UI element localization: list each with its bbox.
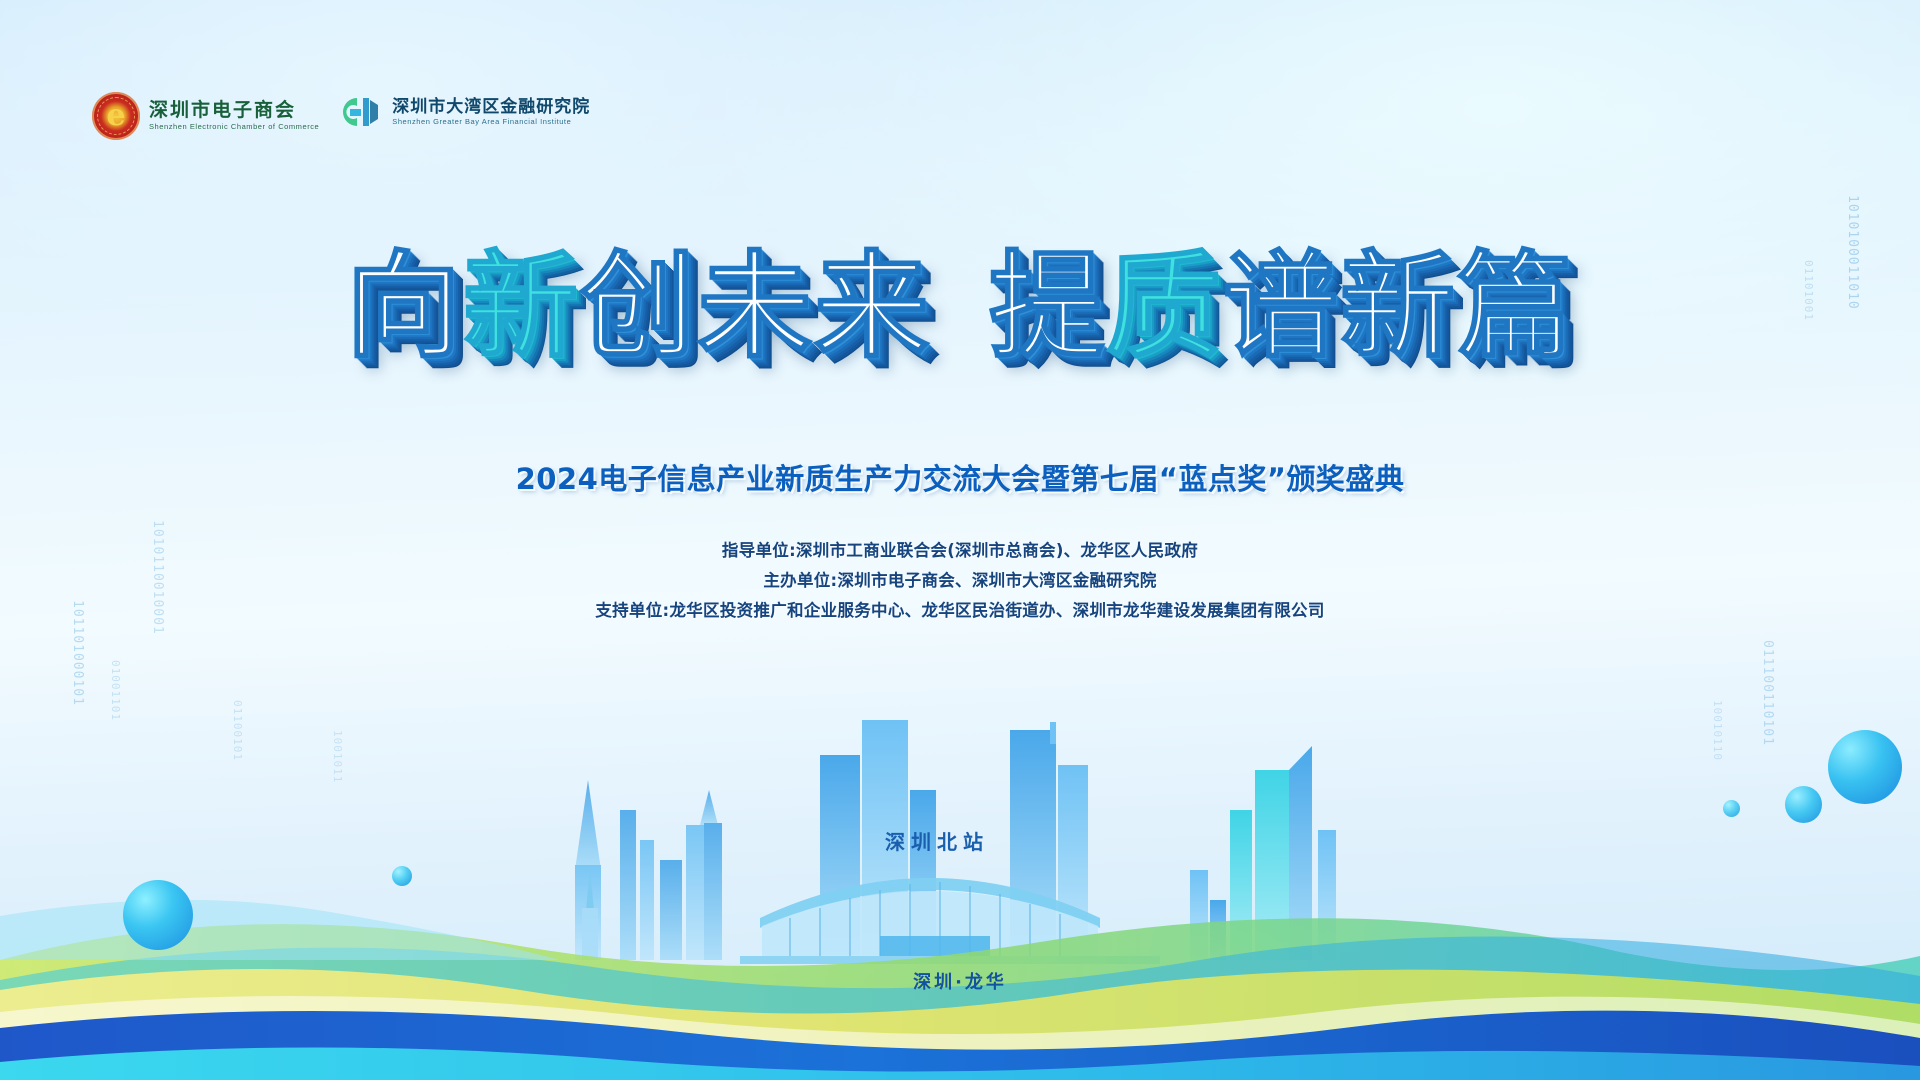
title-char: 谱 xyxy=(1223,250,1340,365)
footer-location-label: 深圳·龙华 xyxy=(0,968,1920,994)
organizer-block: 指导单位:深圳市工商业联合会(深圳市总商会)、龙华区人民政府 主办单位:深圳市电… xyxy=(0,536,1920,626)
logo-en-name: Shenzhen Electronic Chamber of Commerce xyxy=(149,123,319,131)
decor-sphere xyxy=(123,880,193,950)
title-char: 来 xyxy=(814,250,931,365)
seal-emblem-icon xyxy=(92,92,140,140)
page-title: 向新创未来提质谱新篇 xyxy=(0,250,1920,365)
logo-bar: 深圳市电子商会 Shenzhen Electronic Chamber of C… xyxy=(92,92,590,140)
decor-sphere xyxy=(1828,730,1902,804)
organizer-line-guidance: 指导单位:深圳市工商业联合会(深圳市总商会)、龙华区人民政府 xyxy=(0,536,1920,566)
gbi-monogram-icon xyxy=(337,94,383,130)
title-char: 新 xyxy=(1340,250,1457,365)
logo-en-name: Shenzhen Greater Bay Area Financial Inst… xyxy=(392,118,590,126)
title-char: 提 xyxy=(989,250,1106,365)
decor-sphere xyxy=(392,866,412,886)
title-char: 创 xyxy=(580,250,697,365)
logo-cn-name: 深圳市大湾区金融研究院 xyxy=(392,98,590,117)
decor-sphere xyxy=(1723,800,1740,817)
logo-gba-financial-institute: 深圳市大湾区金融研究院 Shenzhen Greater Bay Area Fi… xyxy=(337,94,590,130)
organizer-line-support: 支持单位:龙华区投资推广和企业服务中心、龙华区民治街道办、深圳市龙华建设发展集团… xyxy=(0,596,1920,626)
decor-sphere xyxy=(1785,786,1822,823)
title-char: 向 xyxy=(346,250,463,365)
station-label: 深圳北站 xyxy=(885,826,989,855)
event-subtitle: 2024电子信息产业新质生产力交流大会暨第七届“蓝点奖”颁奖盛典 xyxy=(0,456,1920,498)
skyline-illustration xyxy=(0,660,1920,1080)
title-char: 未 xyxy=(697,250,814,365)
title-char-accent: 新 xyxy=(463,250,580,365)
poster-canvas: 101101000101 01001101 1010110010001 0110… xyxy=(0,0,1920,1080)
logo-cn-name: 深圳市电子商会 xyxy=(149,100,319,121)
logo-shenzhen-electronic-chamber: 深圳市电子商会 Shenzhen Electronic Chamber of C… xyxy=(92,92,319,140)
organizer-line-host: 主办单位:深圳市电子商会、深圳市大湾区金融研究院 xyxy=(0,566,1920,596)
title-char-accent: 质 xyxy=(1106,250,1223,365)
title-char: 篇 xyxy=(1457,250,1574,365)
